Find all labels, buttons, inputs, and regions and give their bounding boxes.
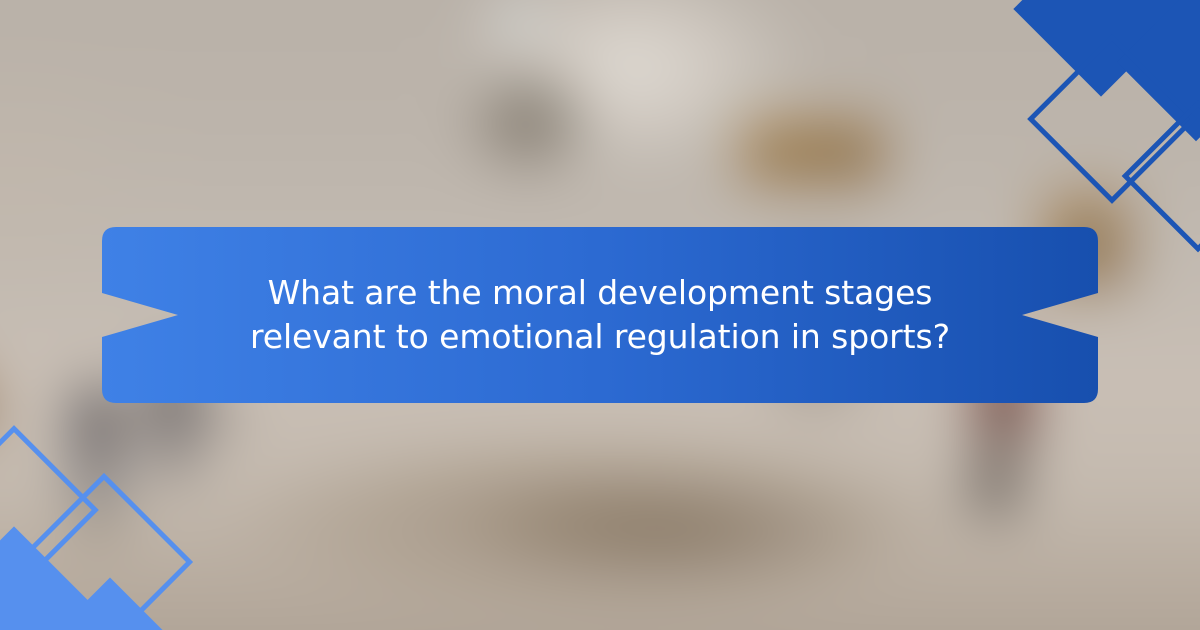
- share-card: What are the moral development stages re…: [0, 0, 1200, 630]
- question-headline: What are the moral development stages re…: [102, 227, 1098, 403]
- diamond-cluster-top-right: [980, 0, 1200, 170]
- diamond-cluster-bottom-left: [0, 400, 230, 630]
- question-ribbon: What are the moral development stages re…: [102, 227, 1098, 403]
- background-blob-center-object: [460, 61, 600, 180]
- background-blob-picture-frame: [743, 122, 883, 182]
- background-blob-floor-shadow: [449, 472, 903, 591]
- background-blob-object-right-2: [967, 450, 1030, 530]
